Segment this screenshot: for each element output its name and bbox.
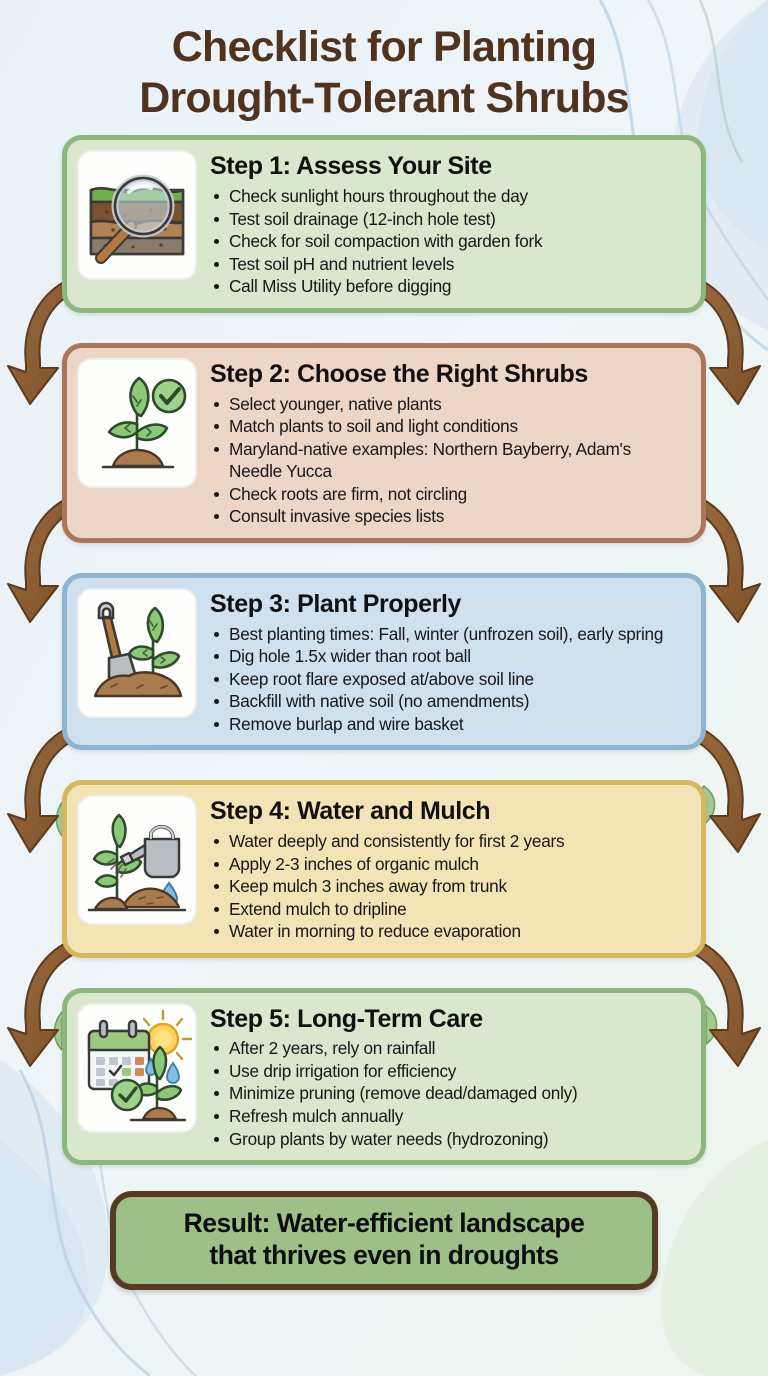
step-card-3[interactable]: Step 3: Plant Properly Best planting tim… bbox=[62, 573, 706, 750]
bullet: After 2 years, rely on rainfall bbox=[210, 1037, 687, 1060]
watering-can-and-mulch-icon bbox=[77, 795, 197, 925]
bullet: Dig hole 1.5x wider than root ball bbox=[210, 645, 687, 668]
bullet: Consult invasive species lists bbox=[210, 505, 687, 528]
magnifier-over-soil-layers-icon bbox=[77, 150, 197, 280]
bullet: Test soil drainage (12-inch hole test) bbox=[210, 208, 687, 231]
result-line-2: that thrives even in droughts bbox=[130, 1240, 638, 1272]
bullet: Maryland-native examples: Northern Baybe… bbox=[210, 438, 687, 483]
bullet: Apply 2-3 inches of organic mulch bbox=[210, 853, 687, 876]
result-line-1: Result: Water-efficient landscape bbox=[130, 1208, 638, 1240]
title-line-2: Drought-Tolerant Shrubs bbox=[26, 73, 742, 124]
bullet: Best planting times: Fall, winter (unfro… bbox=[210, 623, 687, 646]
bullet: Remove burlap and wire basket bbox=[210, 713, 687, 736]
page-title: Checklist for Planting Drought-Tolerant … bbox=[0, 0, 768, 123]
bullet: Check sunlight hours throughout the day bbox=[210, 185, 687, 208]
bullet: Keep mulch 3 inches away from trunk bbox=[210, 875, 687, 898]
step-title: Step 2: Choose the Right Shrubs bbox=[210, 360, 687, 389]
title-line-1: Checklist for Planting bbox=[26, 22, 742, 73]
bullet: Call Miss Utility before digging bbox=[210, 275, 687, 298]
step-card-1[interactable]: Step 1: Assess Your Site Check sunlight … bbox=[62, 135, 706, 312]
step-bullets: Water deeply and consistently for first … bbox=[210, 830, 687, 943]
steps-list: Step 1: Assess Your Site Check sunlight … bbox=[0, 123, 768, 1165]
result-banner-wrapper: Result: Water-efficient landscape that t… bbox=[0, 1165, 768, 1290]
step-card-4[interactable]: Step 4: Water and Mulch Water deeply and… bbox=[62, 780, 706, 957]
step-bullets: Best planting times: Fall, winter (unfro… bbox=[210, 623, 687, 736]
bullet: Test soil pH and nutrient levels bbox=[210, 253, 687, 276]
step-title: Step 3: Plant Properly bbox=[210, 590, 687, 619]
bullet: Group plants by water needs (hydrozoning… bbox=[210, 1128, 687, 1151]
step-bullets: After 2 years, rely on rainfall Use drip… bbox=[210, 1037, 687, 1150]
bullet: Check roots are firm, not circling bbox=[210, 483, 687, 506]
bullet: Select younger, native plants bbox=[210, 393, 687, 416]
result-banner: Result: Water-efficient landscape that t… bbox=[110, 1191, 658, 1290]
step-bullets: Select younger, native plants Match plan… bbox=[210, 393, 687, 528]
step-card-5[interactable]: Step 5: Long-Term Care After 2 years, re… bbox=[62, 988, 706, 1165]
bullet: Backfill with native soil (no amendments… bbox=[210, 690, 687, 713]
step-card-2[interactable]: Step 2: Choose the Right Shrubs Select y… bbox=[62, 343, 706, 543]
seedling-with-checkmark-icon bbox=[77, 358, 197, 488]
bullet: Refresh mulch annually bbox=[210, 1105, 687, 1128]
shovel-and-plant-icon bbox=[77, 588, 197, 718]
step-title: Step 4: Water and Mulch bbox=[210, 797, 687, 826]
bullet: Extend mulch to dripline bbox=[210, 898, 687, 921]
bullet: Use drip irrigation for efficiency bbox=[210, 1060, 687, 1083]
bullet: Keep root flare exposed at/above soil li… bbox=[210, 668, 687, 691]
bullet: Water deeply and consistently for first … bbox=[210, 830, 687, 853]
step-title: Step 1: Assess Your Site bbox=[210, 152, 687, 181]
step-bullets: Check sunlight hours throughout the day … bbox=[210, 185, 687, 298]
bullet: Minimize pruning (remove dead/damaged on… bbox=[210, 1082, 687, 1105]
bullet: Match plants to soil and light condition… bbox=[210, 415, 687, 438]
calendar-sun-plant-icon bbox=[77, 1003, 197, 1133]
step-title: Step 5: Long-Term Care bbox=[210, 1005, 687, 1034]
bullet: Water in morning to reduce evaporation bbox=[210, 920, 687, 943]
bullet: Check for soil compaction with garden fo… bbox=[210, 230, 687, 253]
